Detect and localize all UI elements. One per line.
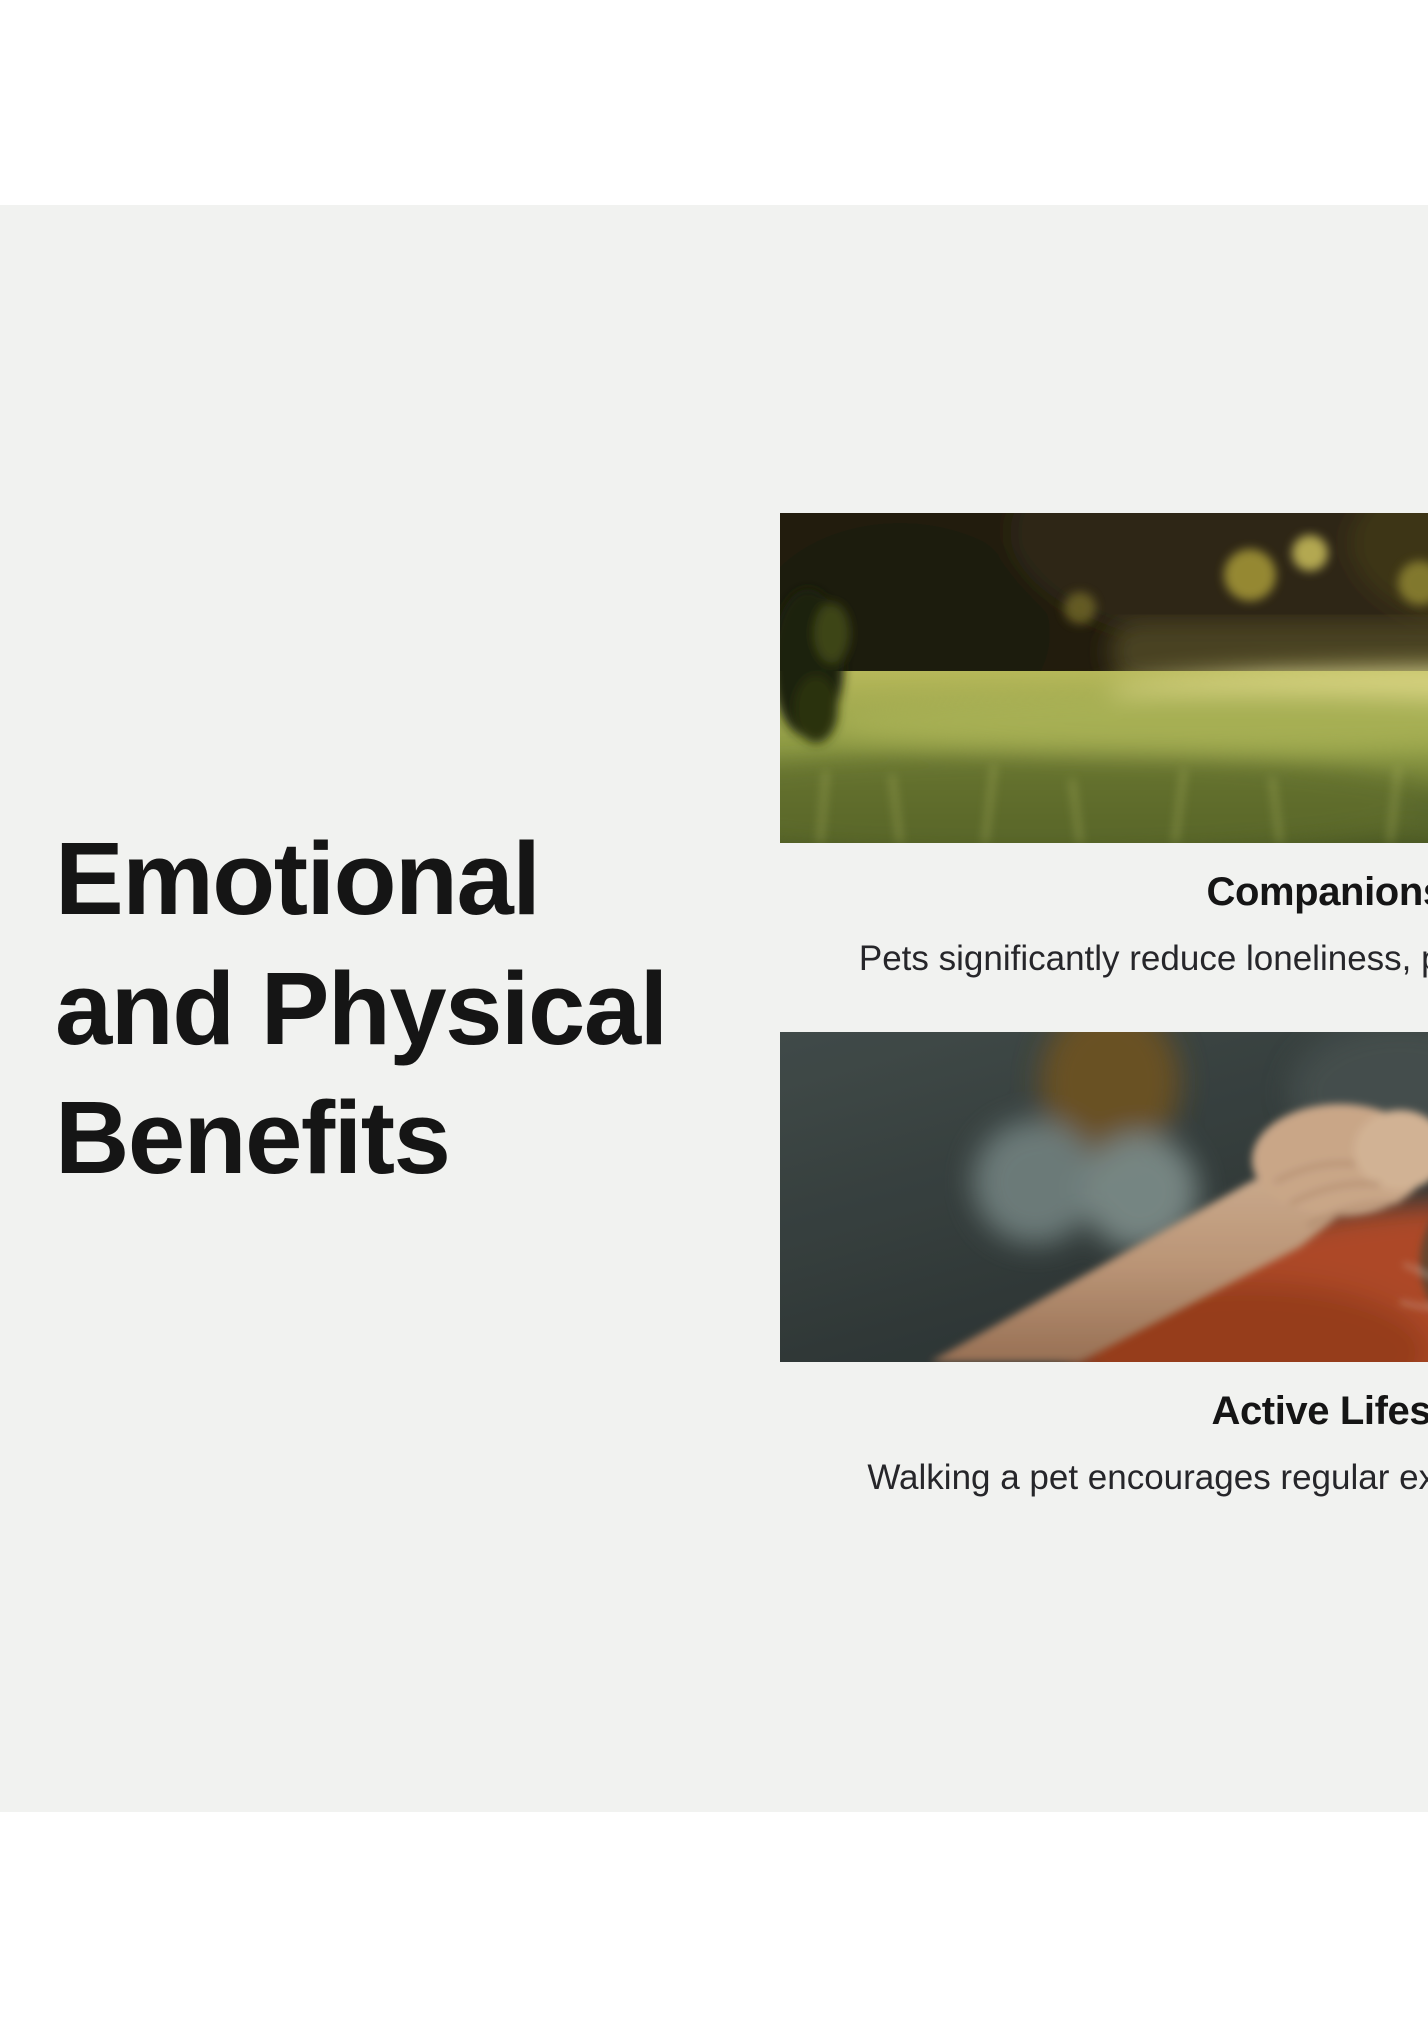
benefit-card[interactable]: Active Lifestyle Walking a pet encourage… [780,1032,1428,1505]
card-title: Active Lifestyle [780,1386,1428,1436]
headline-column: Emotional and Physical Benefits [0,814,780,1203]
slide-panel: Emotional and Physical Benefits [0,205,1428,1812]
slide-canvas: Emotional and Physical Benefits [0,0,1428,2018]
benefit-card[interactable]: Companionship Pets significantly reduce … [780,513,1428,986]
card-image-active-lifestyle [780,1032,1428,1362]
card-image-companionship [780,513,1428,843]
card-body: Pets significantly reduce loneliness, pr… [780,933,1428,986]
benefit-cards-column: Companionship Pets significantly reduce … [780,513,1428,1504]
slide-headline: Emotional and Physical Benefits [55,814,675,1203]
card-body: Walking a pet encourages regular exercis… [780,1452,1428,1505]
card-title: Companionship [780,867,1428,917]
slide-content-row: Emotional and Physical Benefits [0,205,1428,1812]
